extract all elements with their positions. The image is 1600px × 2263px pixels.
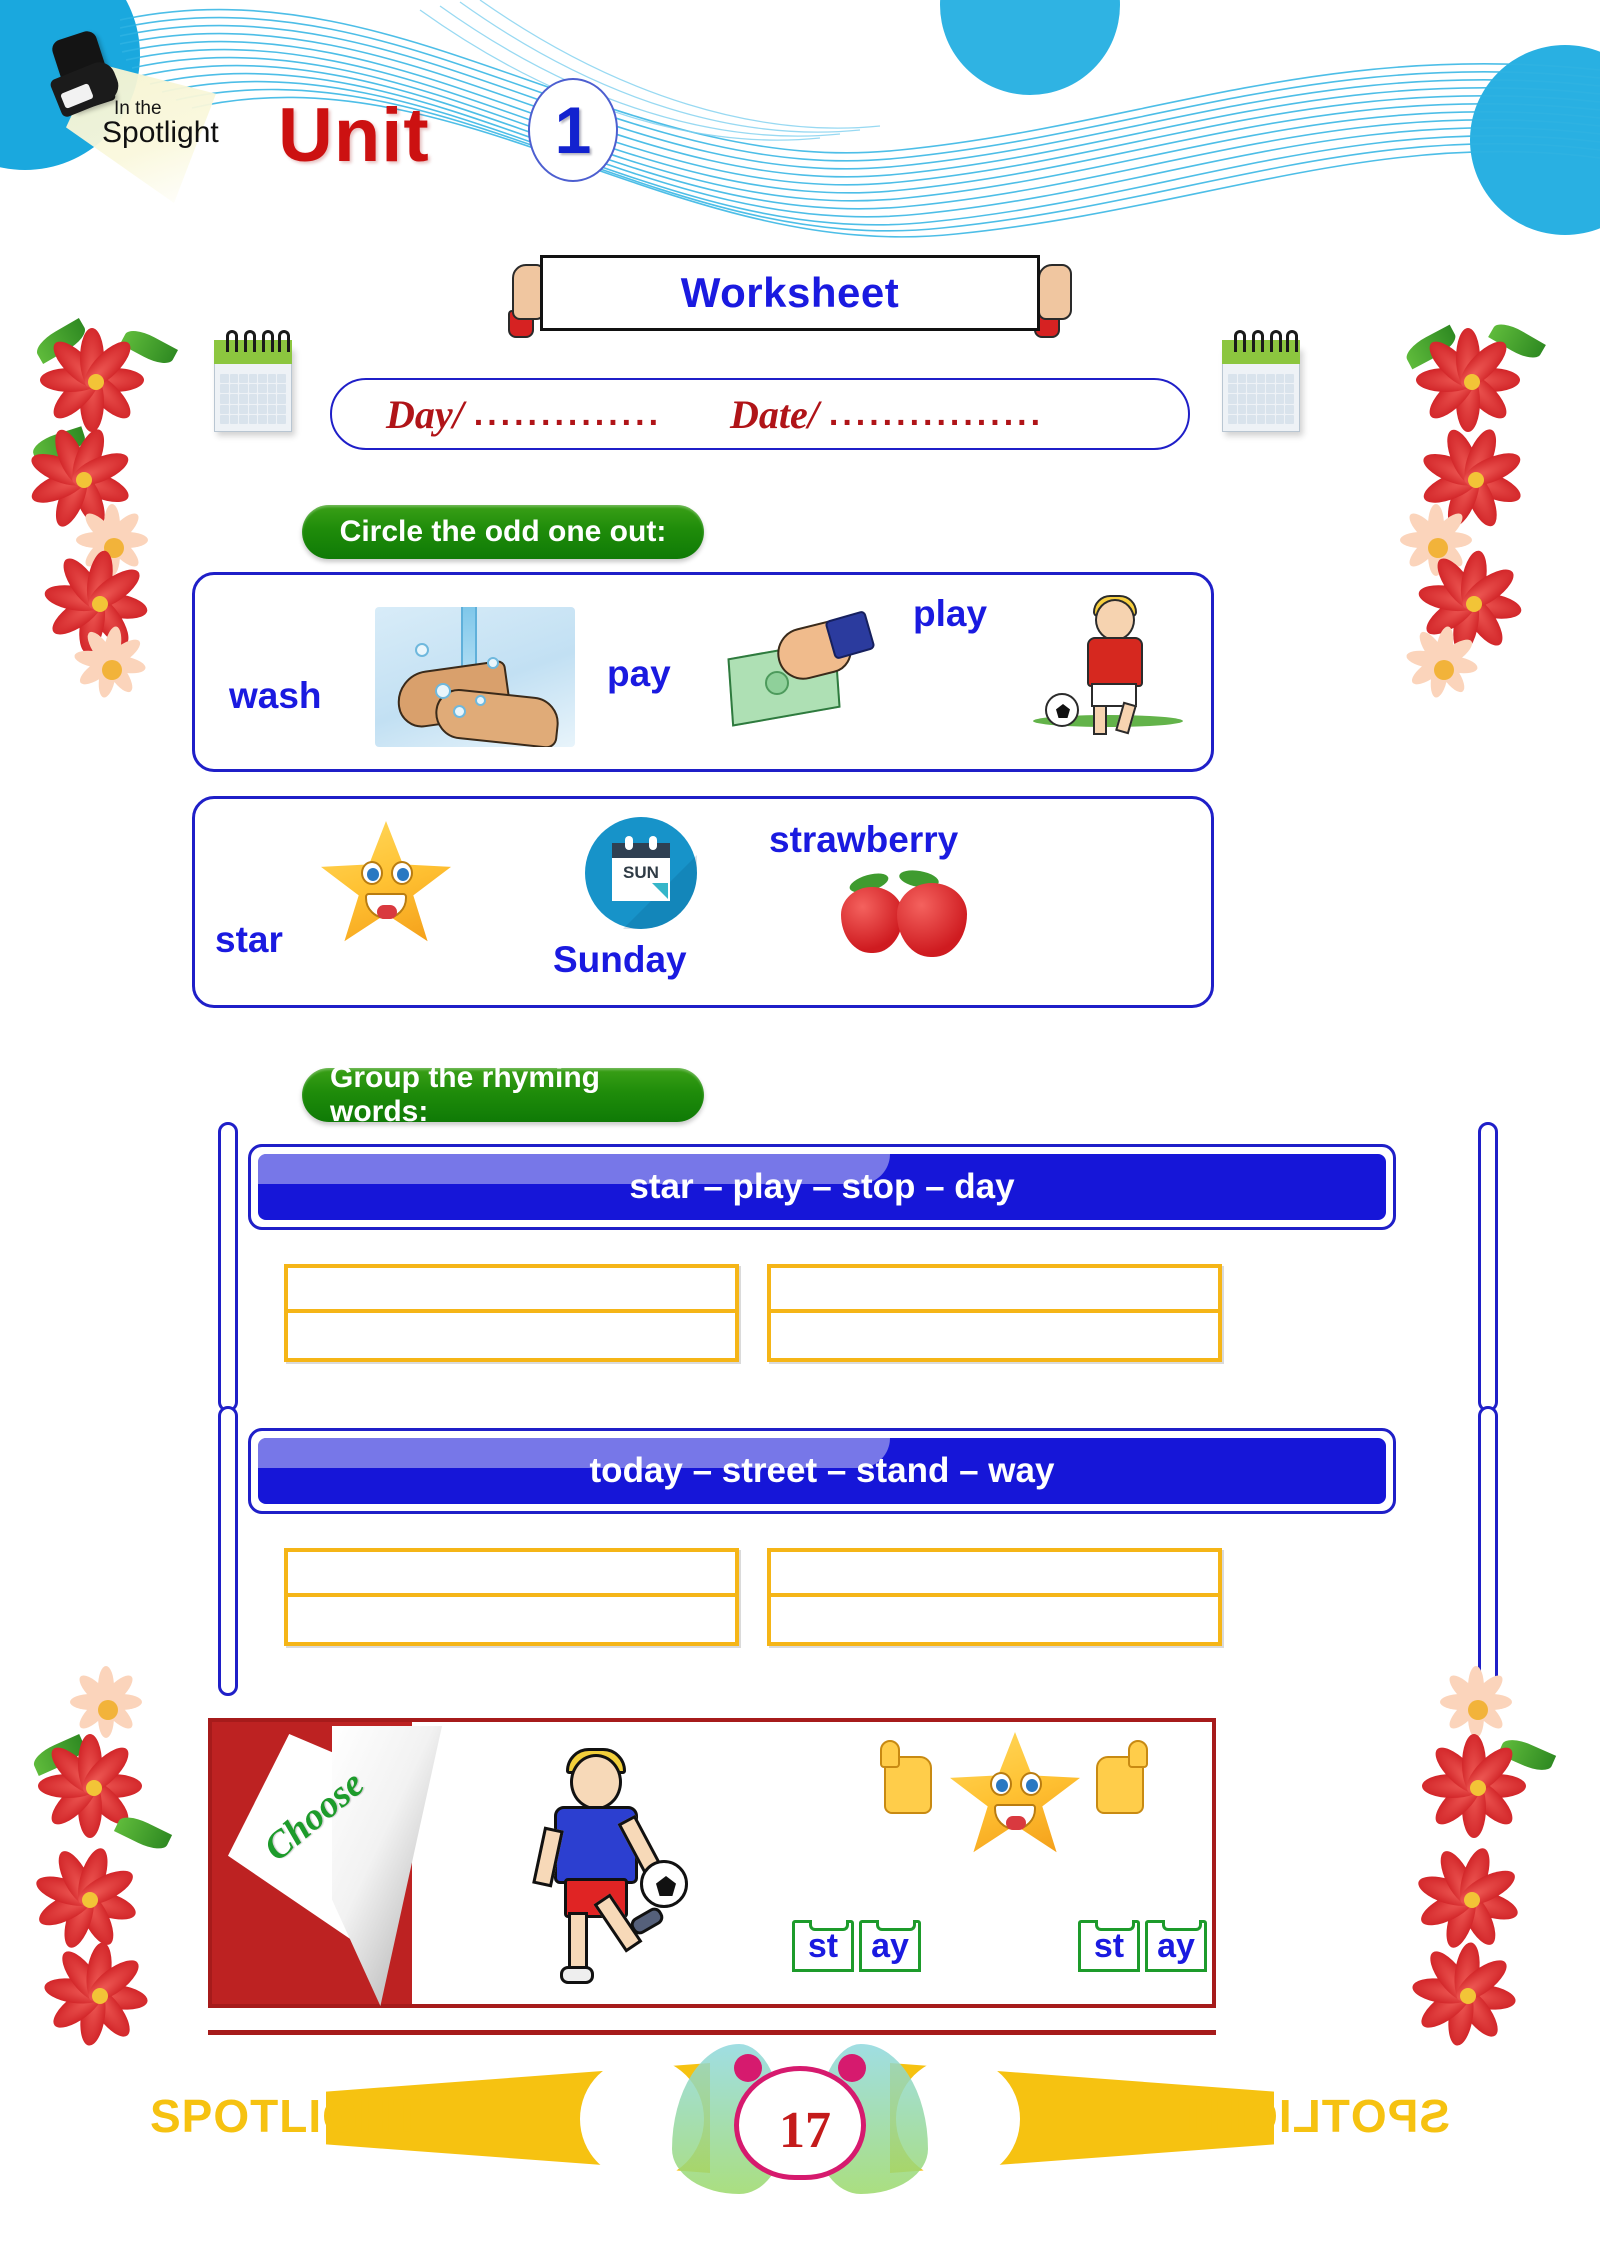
- odd-one-out-row-1: wash pay play: [192, 572, 1214, 772]
- thumbs-up-icon-left: [884, 1756, 932, 1814]
- instruction-group-rhyming-words: Group the rhyming words:: [302, 1068, 704, 1122]
- brand-line-2: Spotlight: [102, 116, 219, 150]
- answer-cell[interactable]: [767, 1313, 1222, 1362]
- antenna-left-icon: [734, 2054, 762, 2082]
- choose-section: Choose st ay: [208, 1718, 1216, 2008]
- answer-cell[interactable]: [767, 1548, 1222, 1597]
- flower-decoration-top-left: [30, 322, 190, 722]
- choice-wash[interactable]: wash: [229, 675, 322, 717]
- day-date-field[interactable]: Day/ .............. Date/ ..............…: [330, 378, 1190, 450]
- page-footer: SPOTLIGHT SPOTLIGHT 17: [0, 2035, 1600, 2215]
- antenna-right-icon: [838, 2054, 866, 2082]
- daisy-icon: [74, 632, 160, 714]
- day-blank[interactable]: ..............: [474, 395, 662, 434]
- answer-cell[interactable]: [284, 1264, 739, 1313]
- letter-tile[interactable]: ay: [1145, 1920, 1207, 1972]
- smiling-star-icon: [950, 1732, 1080, 1856]
- word-strawberry: strawberry: [769, 819, 958, 861]
- board-sign-2: today – street – stand – way: [248, 1428, 1396, 1514]
- odd-one-out-row-2: star SUN Sunday strawberry: [192, 796, 1214, 1008]
- answer-column-2: [767, 1548, 1222, 1646]
- page-number-badge: 17: [672, 2040, 928, 2210]
- strawberries-picture: [835, 871, 985, 963]
- board-sign-1: star – play – stop – day: [248, 1144, 1396, 1230]
- sunday-calendar-icon: SUN: [585, 817, 697, 929]
- worksheet-title: Worksheet: [543, 258, 1037, 328]
- poinsettia-icon: [1420, 336, 1540, 446]
- worksheet-page: In the Spotlight Unit 1 Worksheet: [0, 0, 1600, 2263]
- flower-decoration-bottom-left: [30, 1672, 190, 2072]
- choice-strawberry[interactable]: strawberry: [769, 819, 958, 861]
- poinsettia-icon: [1420, 1854, 1540, 1964]
- board-words-1: star – play – stop – day: [629, 1167, 1014, 1207]
- spotlight-logo: In the Spotlight: [36, 18, 246, 198]
- answer-column-1: [284, 1264, 739, 1362]
- word-star: star: [215, 919, 283, 961]
- letter-tile[interactable]: st: [792, 1920, 854, 1972]
- unit-number-badge: 1: [528, 78, 618, 182]
- date-blank[interactable]: ................: [829, 395, 1044, 434]
- date-label: Date/: [730, 391, 819, 438]
- word-pay: pay: [607, 653, 671, 695]
- choice-play[interactable]: play: [913, 593, 987, 635]
- tiles-group-1: st ay: [792, 1920, 921, 1972]
- day-label: Day/: [386, 391, 464, 438]
- footer-brand-text-left: SPOTLIGHT: [150, 2089, 590, 2143]
- poinsettia-icon: [1416, 1950, 1536, 2060]
- page-badge-body: 17: [734, 2066, 866, 2180]
- letter-tile[interactable]: ay: [859, 1920, 921, 1972]
- page-number: 17: [739, 2101, 871, 2160]
- tiles-group-2: st ay: [1078, 1920, 1207, 1972]
- poinsettia-icon: [1426, 1742, 1546, 1852]
- daisy-icon: [1406, 632, 1492, 714]
- choice-sunday[interactable]: Sunday: [553, 939, 687, 981]
- calendar-icon-left: [210, 330, 300, 440]
- answer-grid-2: [284, 1548, 1222, 1646]
- board-post-right: [1478, 1122, 1498, 1412]
- choice-star[interactable]: star: [215, 919, 283, 961]
- answer-column-1: [284, 1548, 739, 1646]
- answer-column-2: [767, 1264, 1222, 1362]
- footer-brand-text-right: SPOTLIGHT: [1010, 2089, 1450, 2143]
- boy-kicking-ball-picture: [512, 1744, 702, 1994]
- word-wash: wash: [229, 675, 322, 717]
- flower-decoration-top-right: [1400, 322, 1560, 722]
- board-post-left: [218, 1406, 238, 1696]
- answer-cell[interactable]: [284, 1597, 739, 1646]
- answer-grid-1: [284, 1264, 1222, 1362]
- poinsettia-icon: [48, 1950, 168, 2060]
- answer-cell[interactable]: [767, 1597, 1222, 1646]
- footer-brand-right: SPOTLIGHT: [890, 2063, 1450, 2173]
- answer-cell[interactable]: [284, 1548, 739, 1597]
- calendar-icon-right: [1218, 330, 1308, 440]
- word-play: play: [913, 593, 987, 635]
- unit-title: Unit: [278, 92, 430, 179]
- thumbs-up-icon-right: [1096, 1756, 1144, 1814]
- answer-cell[interactable]: [767, 1264, 1222, 1313]
- smiling-star-picture: [321, 821, 451, 945]
- flower-decoration-bottom-right: [1410, 1672, 1570, 2072]
- boy-playing-football-picture: [1033, 595, 1193, 729]
- washing-hands-picture: [375, 607, 575, 747]
- sunday-icon-text: SUN: [612, 863, 670, 883]
- board-post-left: [218, 1122, 238, 1412]
- letter-tile[interactable]: st: [1078, 1920, 1140, 1972]
- unit-number-value: 1: [555, 97, 592, 163]
- hand-with-money-picture: [725, 615, 875, 725]
- answer-cell[interactable]: [284, 1313, 739, 1362]
- word-sunday: Sunday: [553, 939, 687, 981]
- footer-brand-left: SPOTLIGHT: [150, 2063, 710, 2173]
- worksheet-banner: Worksheet: [540, 255, 1040, 331]
- star-with-thumbs-up-picture: [884, 1732, 1144, 1912]
- board-post-right: [1478, 1406, 1498, 1696]
- choice-pay[interactable]: pay: [607, 653, 671, 695]
- board-words-2: today – street – stand – way: [590, 1451, 1055, 1491]
- instruction-circle-odd-one-out: Circle the odd one out:: [302, 505, 704, 559]
